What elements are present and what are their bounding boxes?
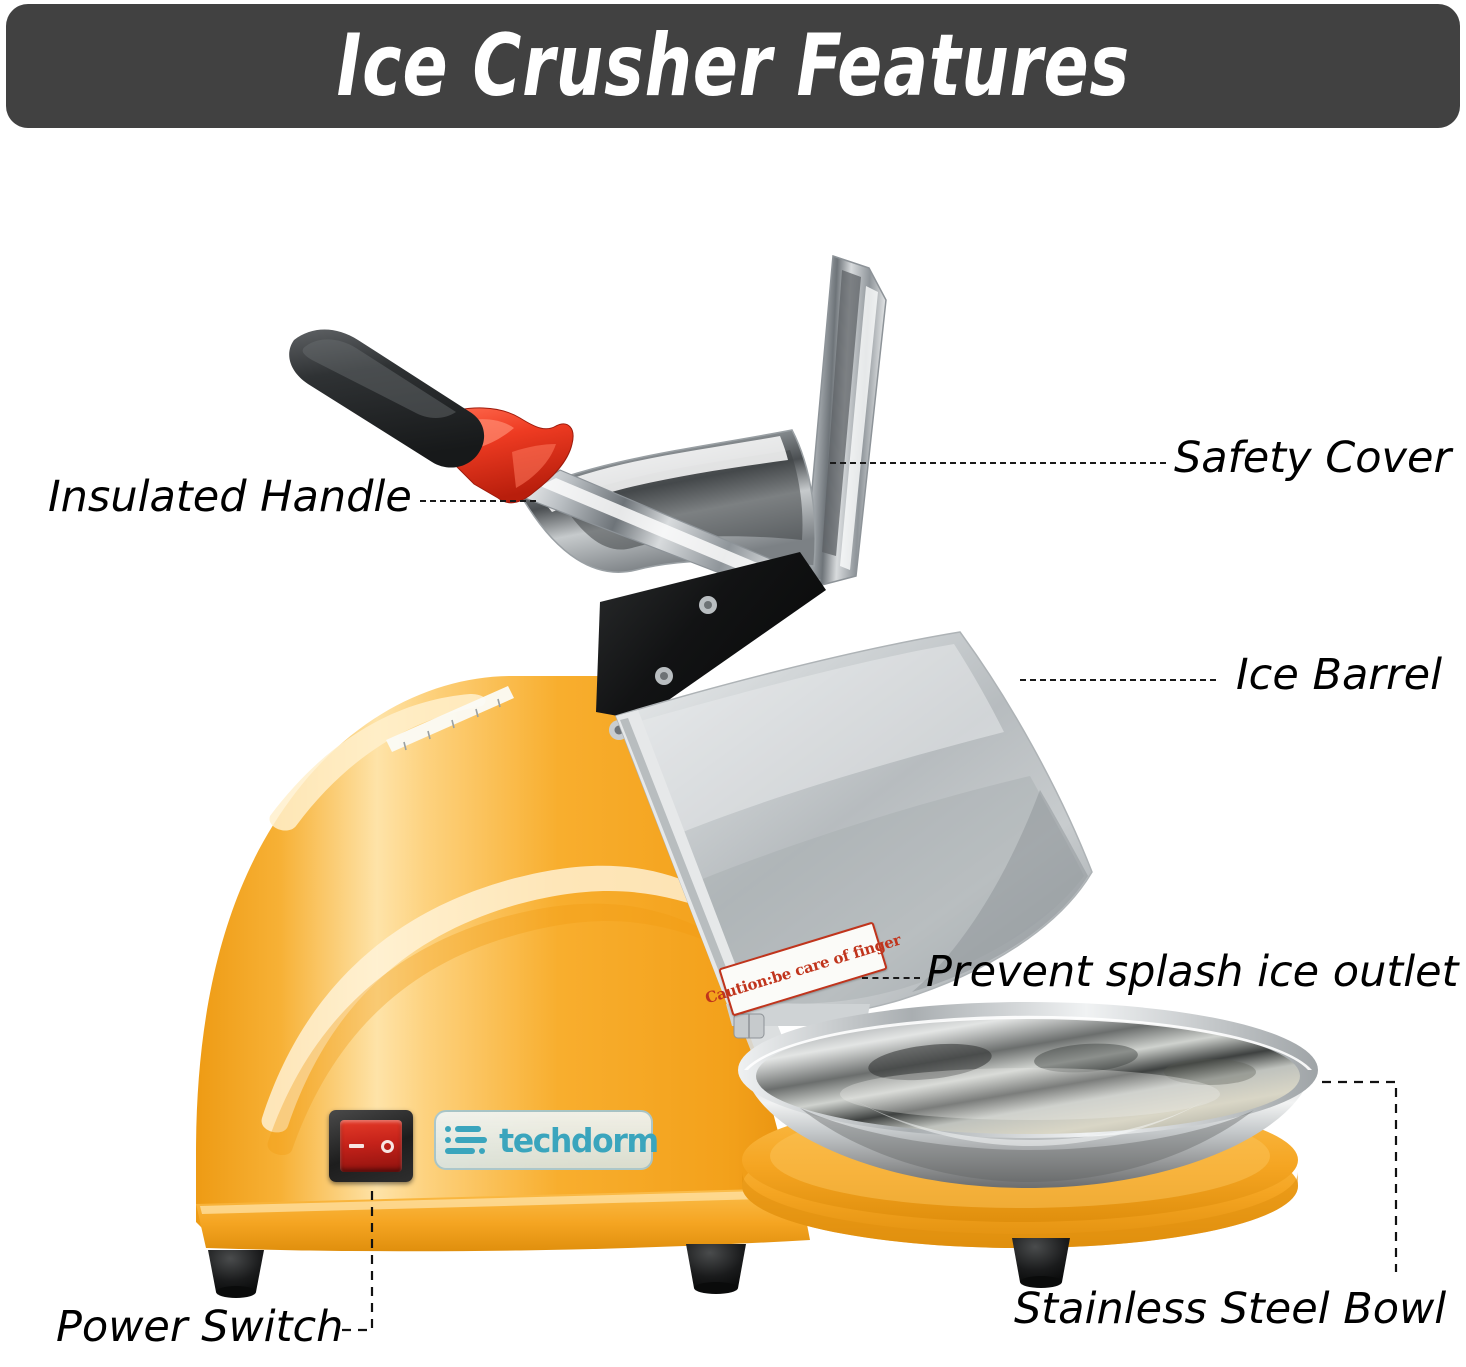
callout-insulated-handle: Insulated Handle <box>48 476 412 519</box>
leader-insulated-handle <box>420 500 536 502</box>
leader-safety-cover <box>830 462 1166 464</box>
insulated-handle-black <box>289 330 484 468</box>
leader-stainless-steel-bowl <box>1322 1082 1396 1272</box>
blade-shaft <box>520 470 820 604</box>
callout-safety-cover: Safety Cover <box>1174 437 1451 480</box>
callout-prevent-splash-ice-outlet: Prevent splash ice outlet <box>926 951 1458 994</box>
safety-cover-shield <box>520 430 815 572</box>
feature-diagram-page: Ice Crusher Features <box>0 0 1466 1367</box>
vent-strip <box>386 686 514 752</box>
caution-sticker-text: Caution:be care of finger <box>703 931 903 1008</box>
leader-prevent-splash <box>862 977 920 979</box>
bowl-base-platform <box>742 1098 1298 1248</box>
caution-sticker: Caution:be care of finger <box>718 921 888 1016</box>
rubber-feet <box>208 1238 1070 1298</box>
brand-logo-icon <box>445 1120 487 1160</box>
power-off-mark-icon <box>381 1140 394 1153</box>
title-banner: Ice Crusher Features <box>6 4 1460 128</box>
power-on-mark-icon <box>349 1144 364 1148</box>
leader-ice-barrel <box>1020 679 1216 681</box>
page-title: Ice Crusher Features <box>336 23 1129 109</box>
hinge-plate <box>596 552 826 740</box>
safety-cover-arm <box>806 256 886 586</box>
stainless-steel-bowl <box>738 1002 1318 1188</box>
callout-power-switch: Power Switch <box>56 1306 343 1349</box>
leader-power-switch <box>342 1186 372 1330</box>
brand-name: techdorm <box>499 1124 658 1157</box>
callout-stainless-steel-bowl: Stainless Steel Bowl <box>1014 1288 1446 1331</box>
brand-badge: techdorm <box>434 1110 653 1170</box>
callout-ice-barrel: Ice Barrel <box>1236 654 1442 697</box>
power-switch-rocker[interactable] <box>340 1120 402 1172</box>
insulated-handle-red <box>436 408 573 503</box>
barrel-latch <box>734 1014 764 1038</box>
power-switch[interactable] <box>329 1110 413 1182</box>
